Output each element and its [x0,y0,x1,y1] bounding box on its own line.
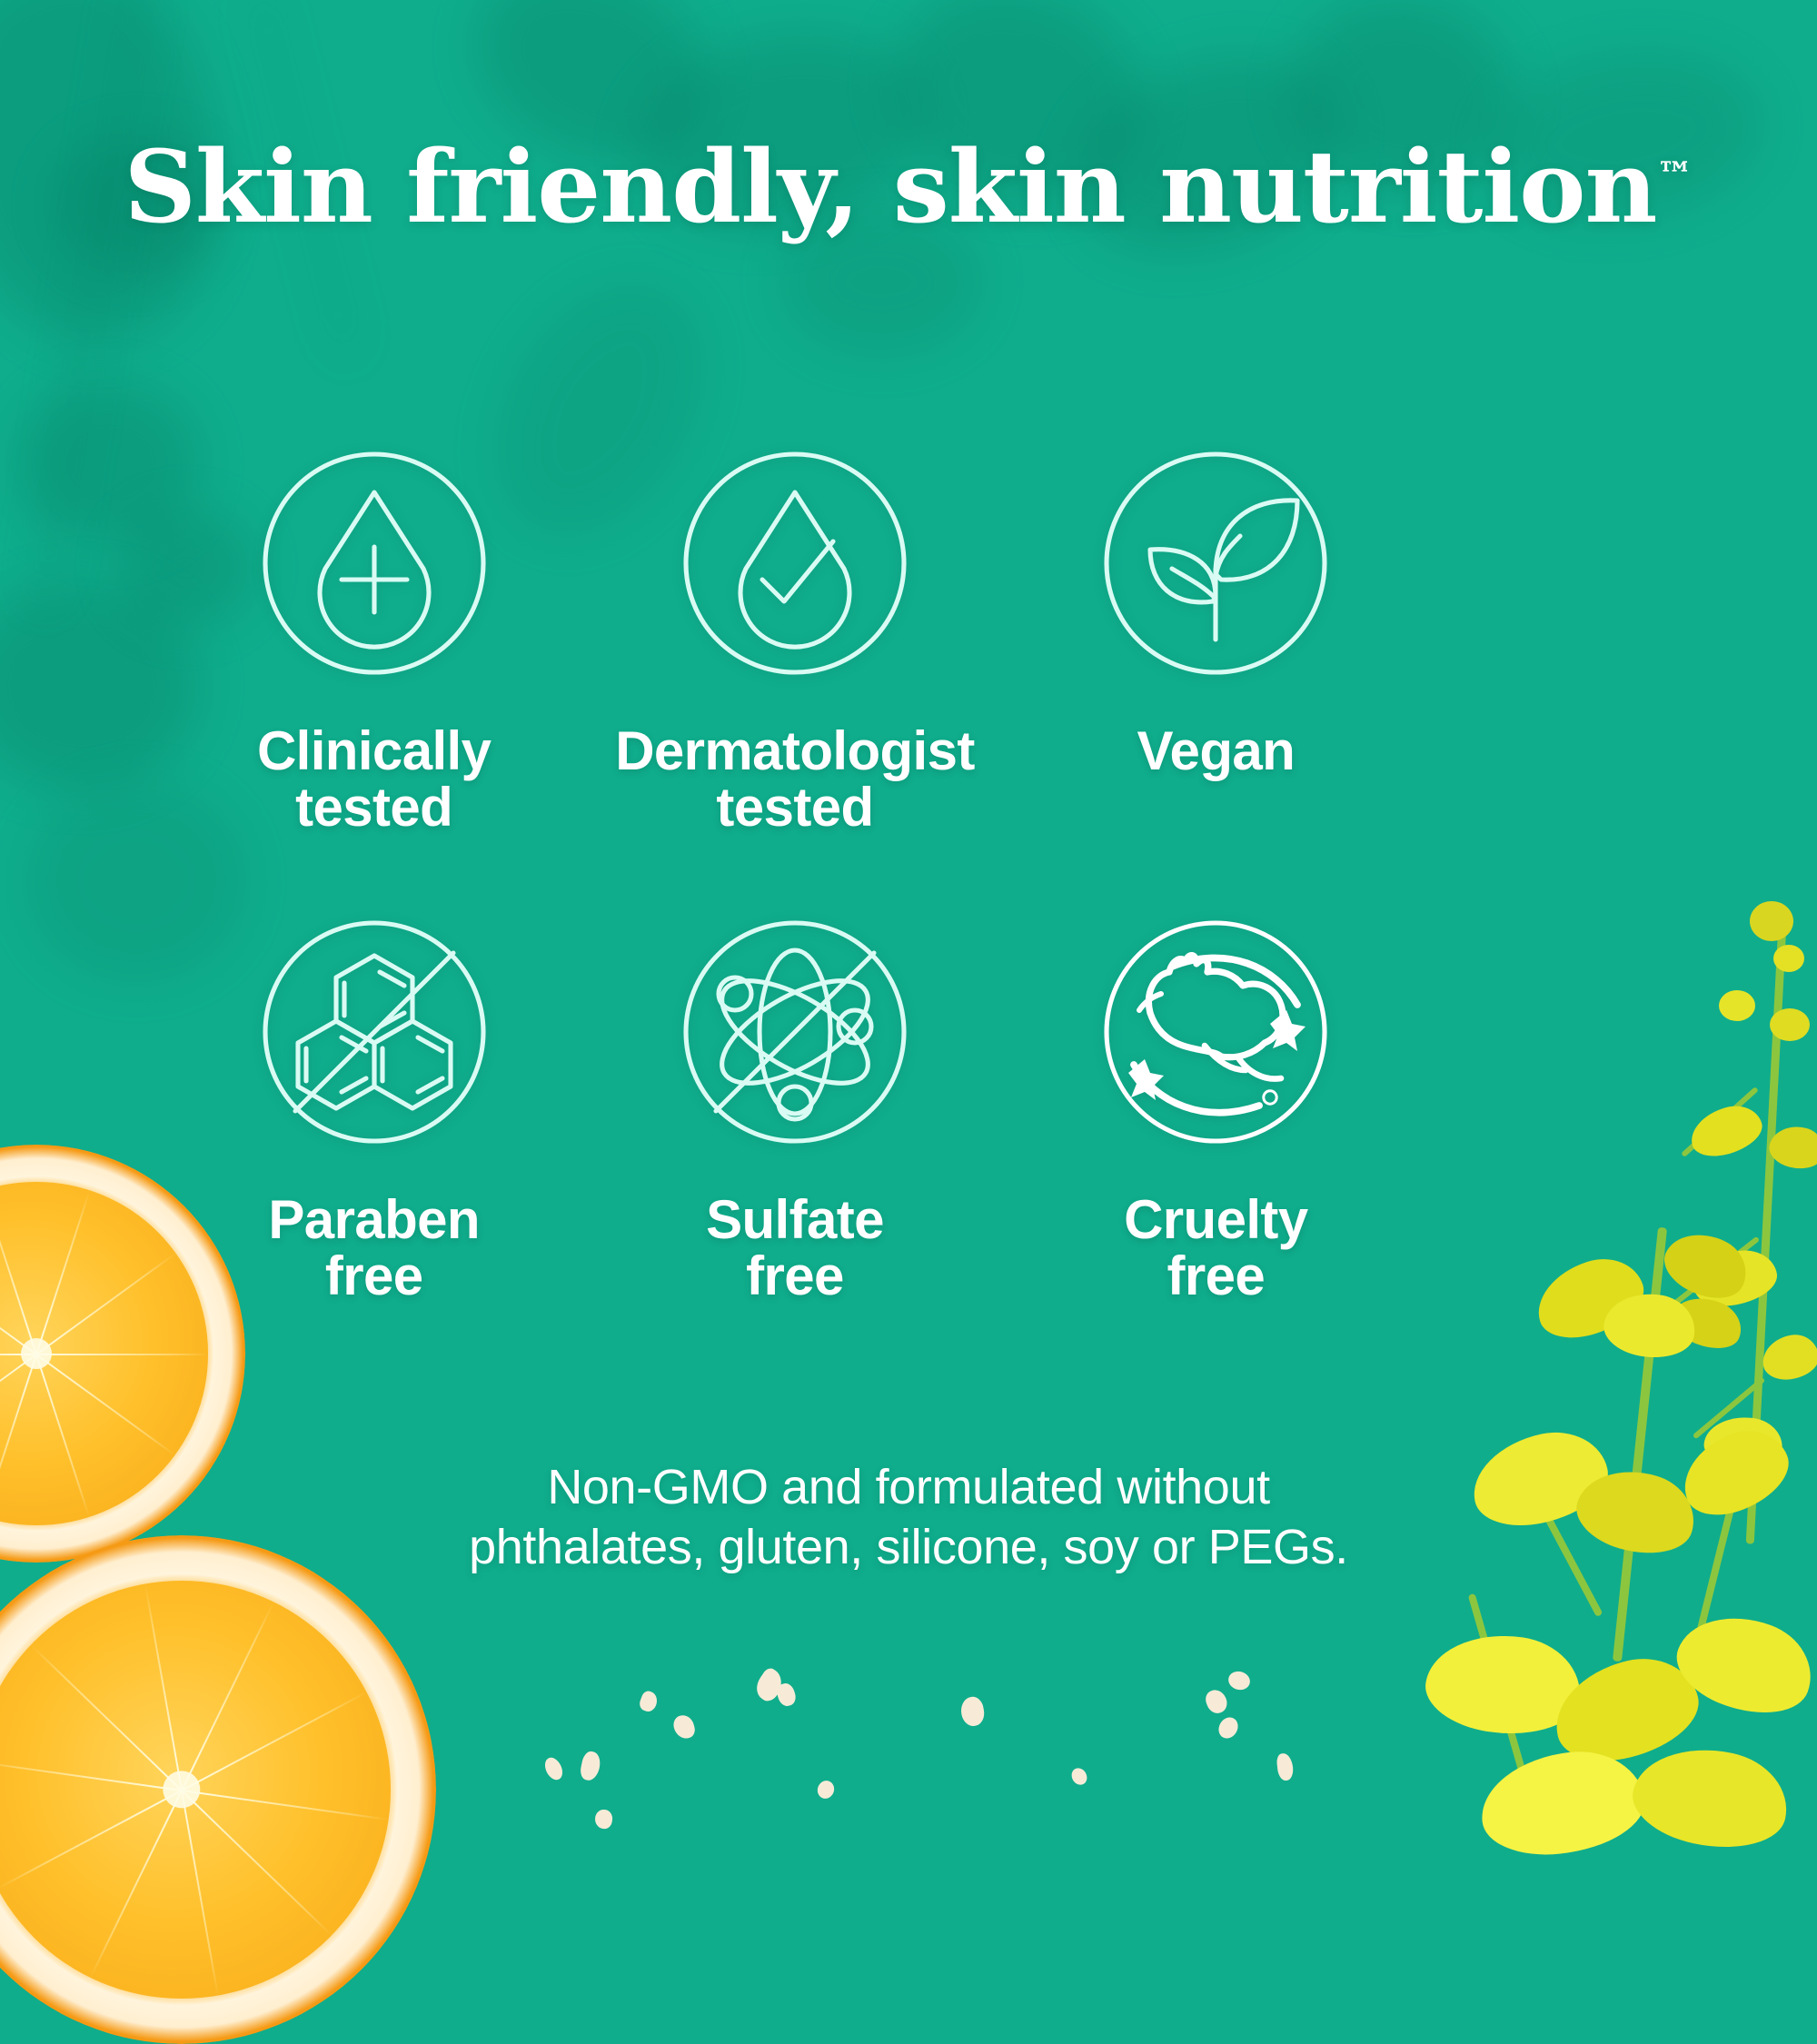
claim-vegan: Vegan [1006,427,1426,837]
droplet-check-icon [659,427,931,700]
leaf-sprout-icon [1079,427,1352,700]
claim-cruelty-free: Cruelty free [1006,896,1426,1305]
claim-dermatologist-tested: Dermatologist tested [584,427,1005,837]
claims-grid: Clinically tested Dermatologist tested V… [164,427,1426,1305]
claim-label: Paraben free [268,1192,480,1305]
hexagons-no-icon [238,896,511,1168]
headline-text: Skin friendly, skin nutrition [124,128,1656,245]
atom-no-icon [659,896,931,1168]
trademark-symbol: ™ [1657,154,1693,196]
claim-clinically-tested: Clinically tested [164,427,584,837]
footnote-text: Non-GMO and formulated without phthalate… [0,1458,1817,1578]
page-title: Skin friendly, skin nutrition™ [0,134,1817,240]
claim-label: Sulfate free [706,1192,884,1305]
claim-sulfate-free: Sulfate free [584,896,1005,1305]
claim-label: Dermatologist tested [615,723,975,837]
leaping-bunny-icon [1079,896,1352,1168]
claim-label: Vegan [1137,723,1295,779]
droplet-plus-icon [238,427,511,700]
claim-paraben-free: Paraben free [164,896,584,1305]
claim-label: Clinically tested [257,723,491,837]
claim-label: Cruelty free [1124,1192,1308,1305]
